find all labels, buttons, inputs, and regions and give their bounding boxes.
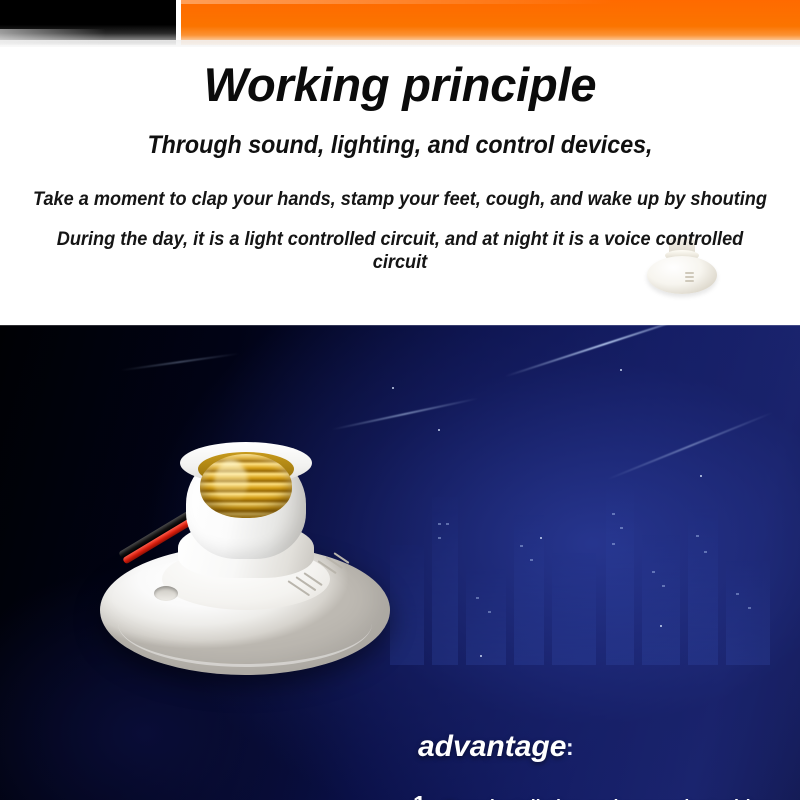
description-line-1: Take a moment to clap your hands, stamp …	[28, 188, 772, 211]
advantage-heading: advantage	[418, 730, 566, 764]
advantage-colon: :	[566, 734, 574, 761]
cityscape-decoration	[380, 365, 800, 665]
advantage-item-1-number: 1	[413, 791, 426, 800]
panel-top-edge	[0, 325, 800, 326]
banner-orange-block	[181, 0, 800, 45]
description-line-2: During the day, it is a light controlled…	[28, 228, 772, 274]
advantage-item-1: 1、Easy installation and convenient wirin…	[413, 791, 771, 800]
subtitle: Through sound, lighting, and control dev…	[28, 131, 772, 160]
mounting-screw-hole	[154, 586, 178, 601]
banner-black-block	[0, 0, 176, 45]
page-title: Working principle	[0, 57, 800, 112]
advantage-section: advantage : 1、Easy installation and conv…	[0, 325, 800, 800]
product-photo-lamp-holder	[92, 430, 392, 680]
advantage-item-1-text: Easy installation and convenient wiring	[443, 796, 771, 800]
product-marketing-image: Working principle Through sound, lightin…	[0, 0, 800, 800]
